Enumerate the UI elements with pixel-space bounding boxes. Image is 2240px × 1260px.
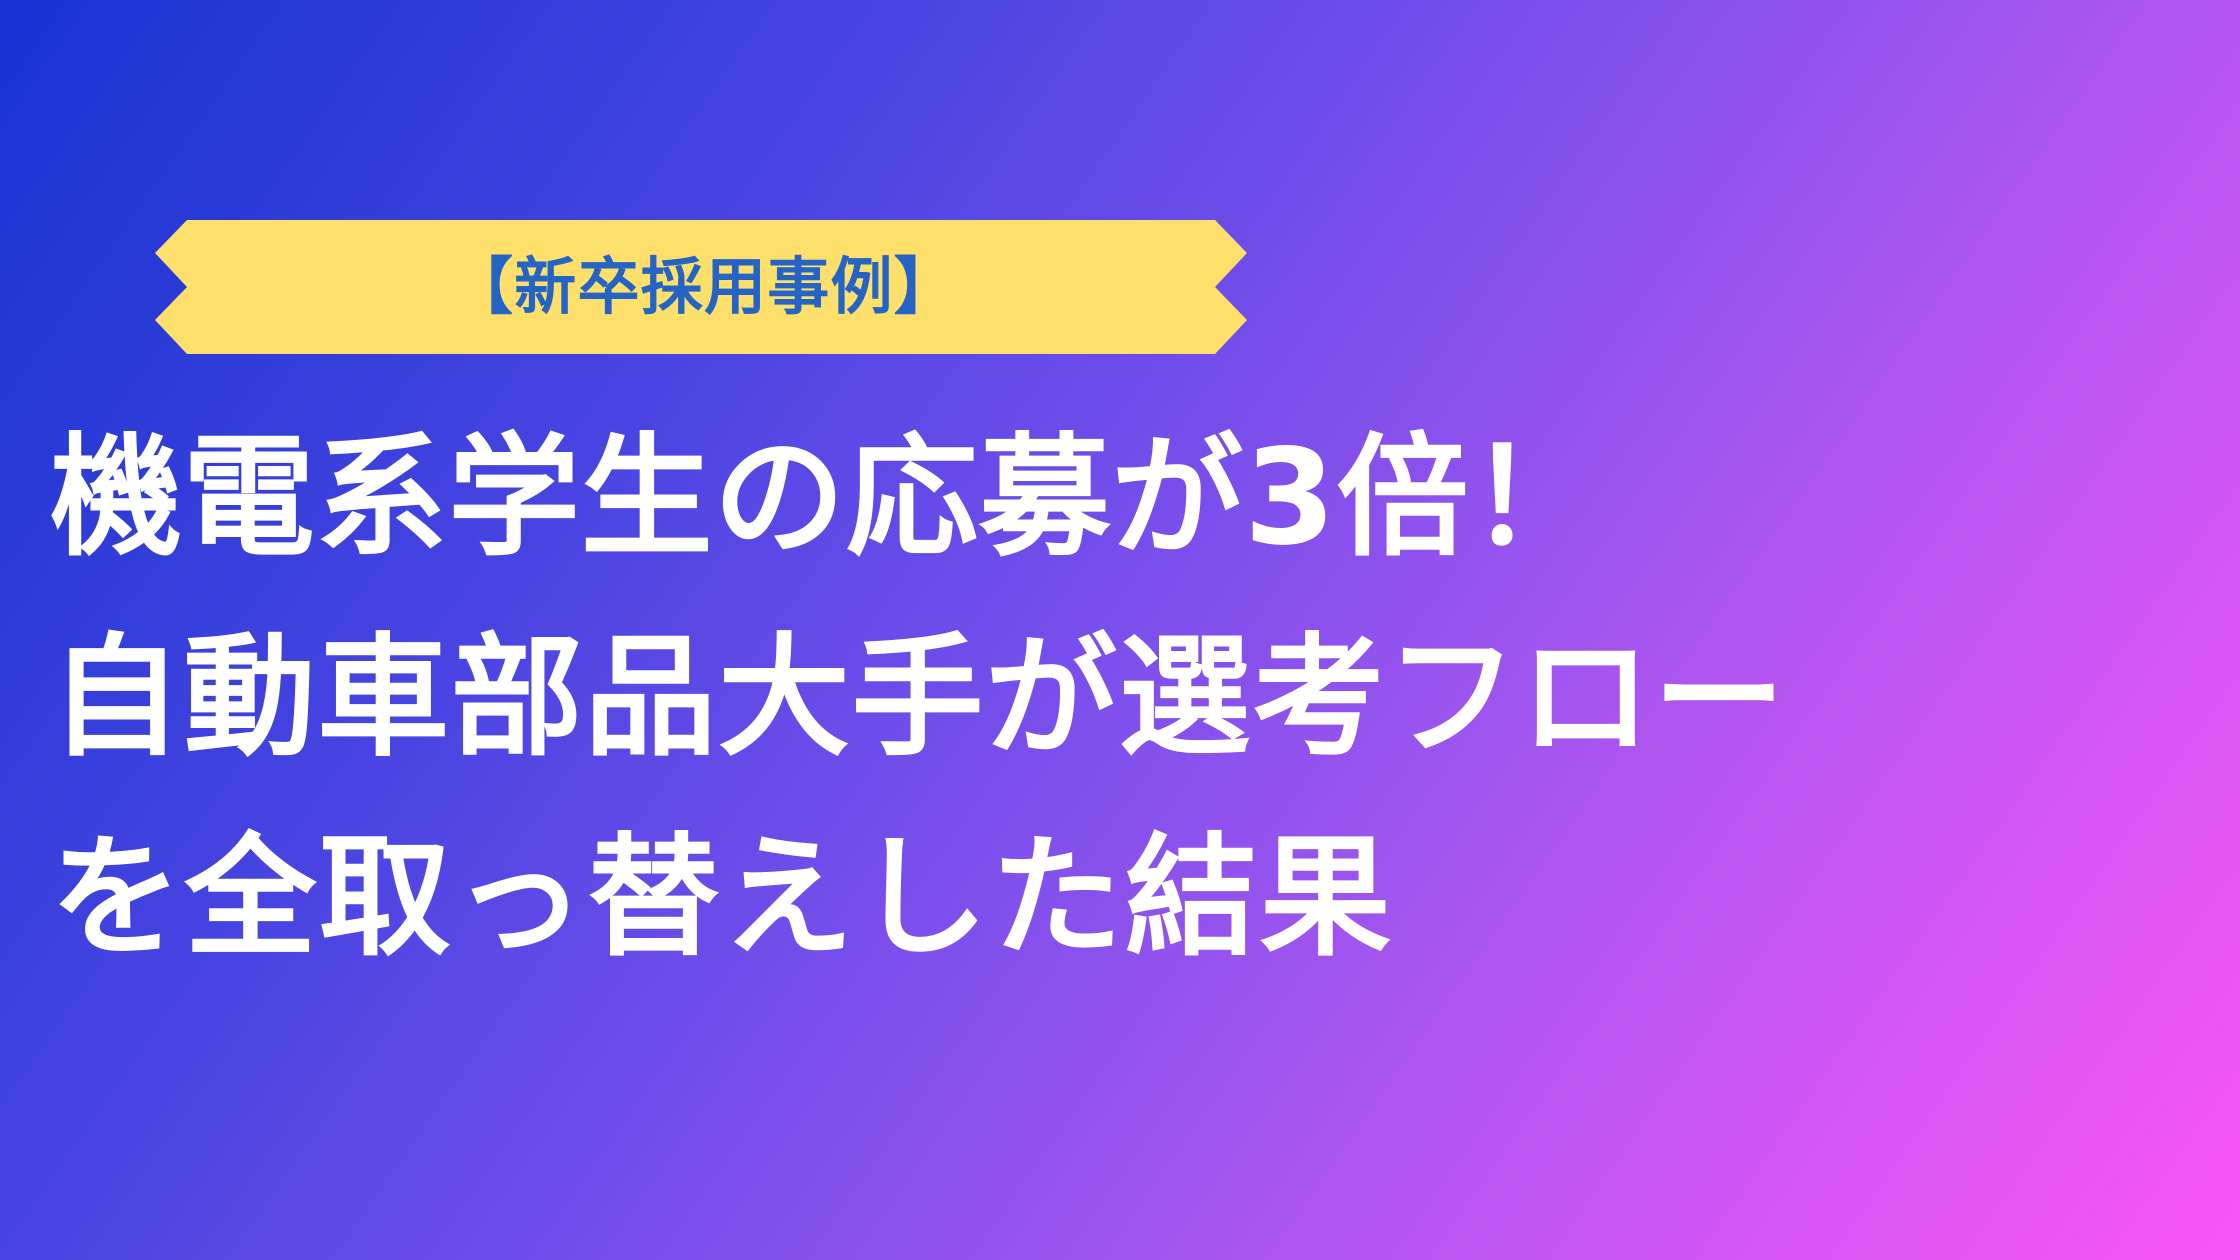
category-badge: 【新卒採用事例】 <box>155 220 1247 354</box>
headline-line-2: 自動車部品大手が選考フロー <box>50 598 2200 798</box>
headline-block: 機電系学生の応募が3倍！ 自動車部品大手が選考フロー を全取っ替えした結果 <box>50 398 2200 998</box>
headline-line-1: 機電系学生の応募が3倍！ <box>50 398 2200 598</box>
headline-line-3: を全取っ替えした結果 <box>50 798 2200 998</box>
badge-label: 【新卒採用事例】 <box>155 220 1247 354</box>
slide-canvas: 【新卒採用事例】 機電系学生の応募が3倍！ 自動車部品大手が選考フロー を全取っ… <box>0 0 2240 1260</box>
